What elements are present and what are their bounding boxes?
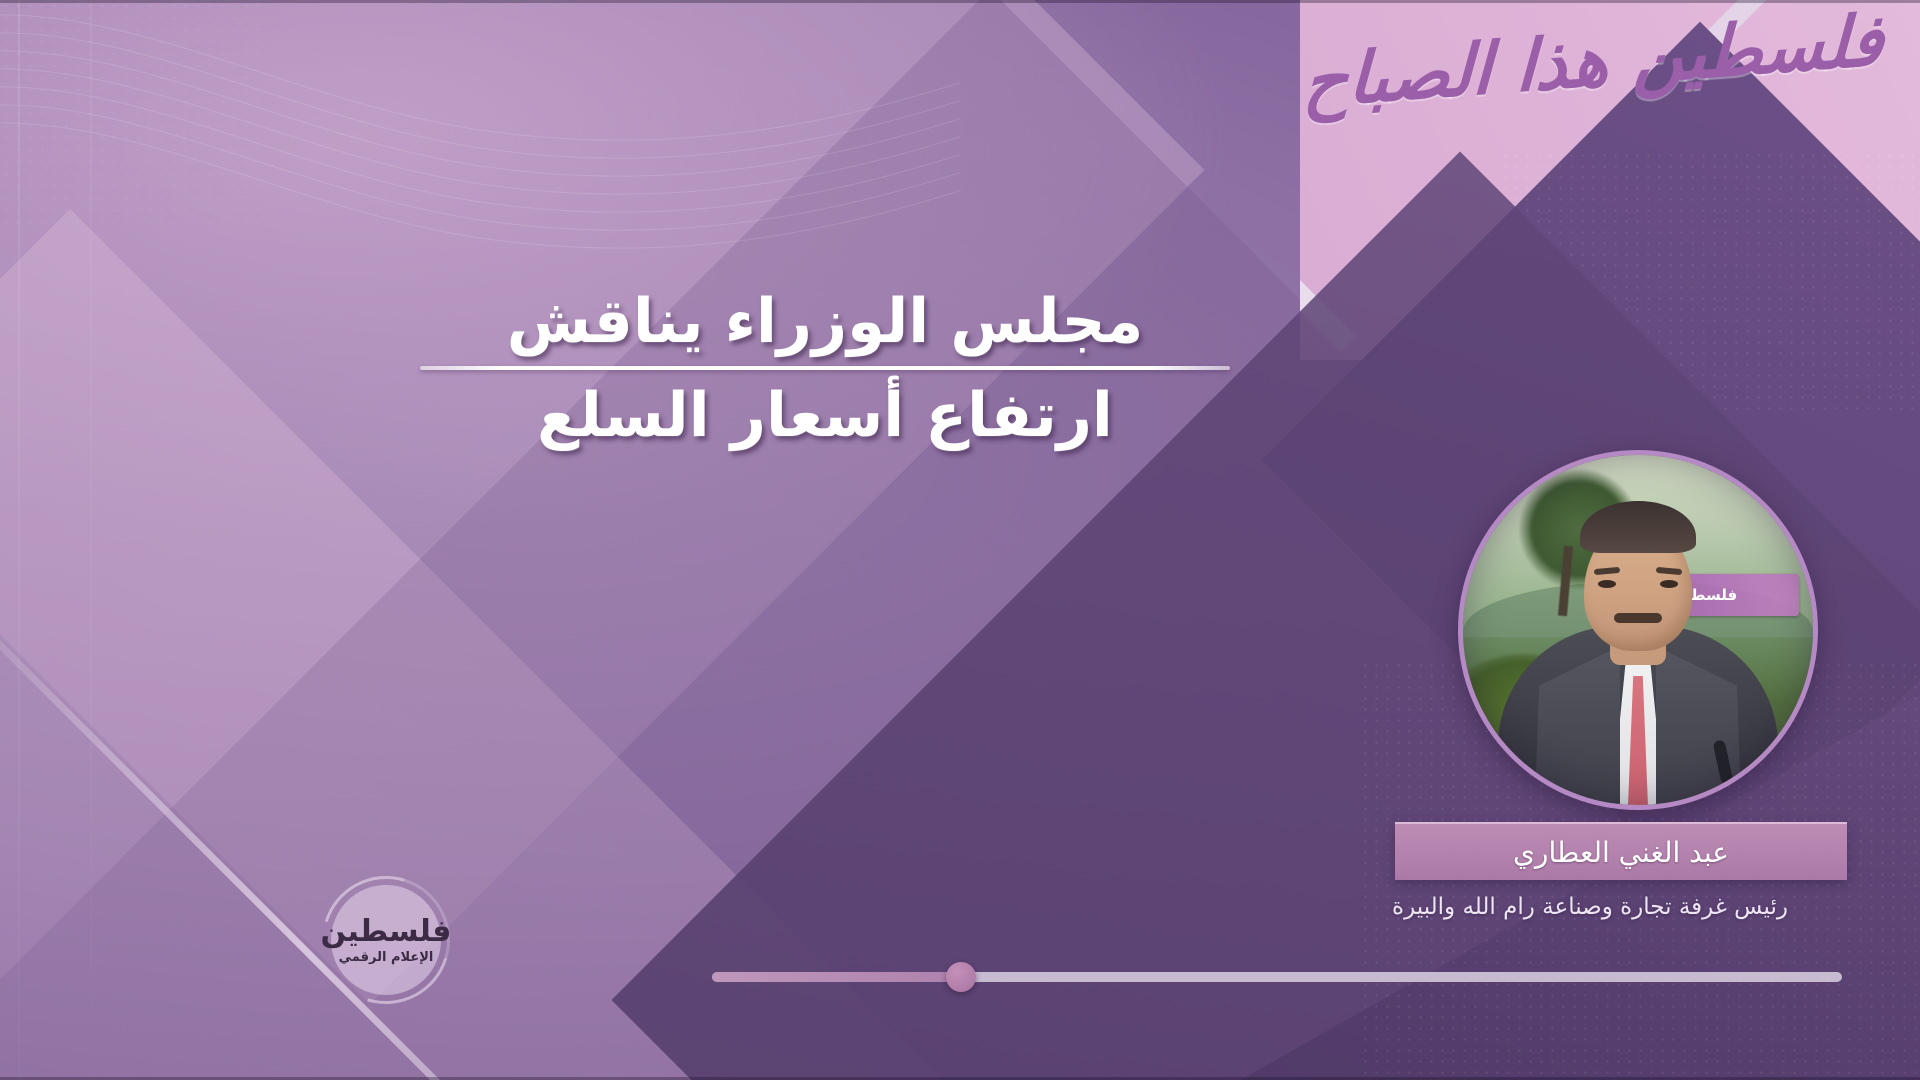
frame-edge-top <box>0 0 1920 3</box>
guest-name-label: عبد الغني العطاري <box>1513 836 1729 869</box>
avatar-vignette <box>1463 455 1813 805</box>
headline-divider <box>420 366 1230 370</box>
digital-media-watermark: فلسطين الإعلام الرقمي <box>322 876 450 1004</box>
headline-line-1: مجلس الوزراء يناقش <box>420 288 1230 356</box>
progress-handle[interactable] <box>946 962 976 992</box>
watermark-main-label: فلسطين <box>321 917 452 947</box>
video-progress-bar[interactable] <box>712 972 1842 982</box>
broadcast-frame: فلسطين هذا الصباح مجلس الوزراء يناقش ارت… <box>0 0 1920 1080</box>
wave-lines-decoration <box>0 0 960 260</box>
progress-fill <box>712 972 961 982</box>
headline-line-2: ارتفاع أسعار السلع <box>420 382 1230 450</box>
guest-role-label: رئيس غرفة تجارة وصناعة رام الله والبيرة <box>1330 894 1850 920</box>
headline-block: مجلس الوزراء يناقش ارتفاع أسعار السلع <box>420 288 1230 451</box>
guest-avatar: فلسطين <box>1458 450 1818 810</box>
watermark-disc: فلسطين الإعلام الرقمي <box>331 885 441 995</box>
guest-nameplate: عبد الغني العطاري <box>1395 822 1847 880</box>
watermark-sub-label: الإعلام الرقمي <box>339 951 434 964</box>
